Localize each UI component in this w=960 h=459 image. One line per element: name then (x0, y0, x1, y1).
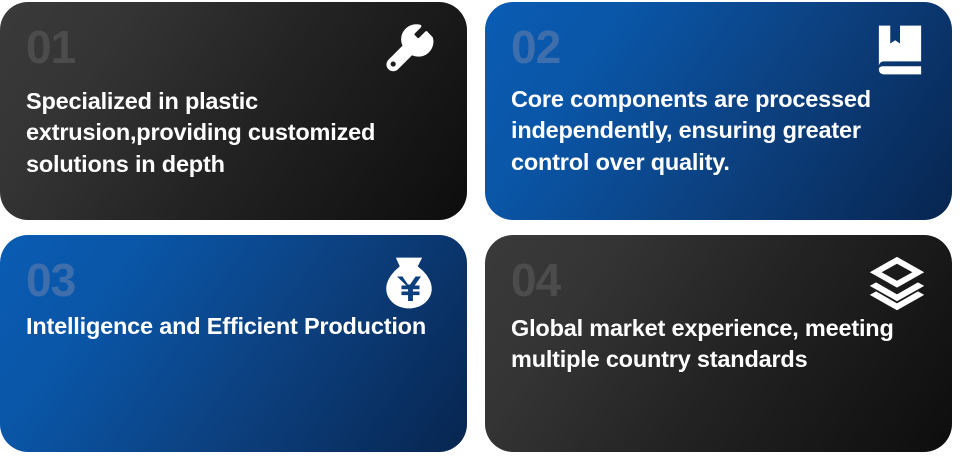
money-bag-yen-icon (381, 255, 437, 311)
card-number: 01 (26, 24, 441, 70)
wrench-icon (383, 22, 439, 78)
feature-card-grid: 01 Specialized in plastic extrusion,prov… (0, 0, 960, 459)
card-text: Global market experience, meeting multip… (511, 313, 926, 376)
feature-card-04[interactable]: 04 Global market experience, meeting mul… (485, 235, 952, 453)
feature-card-01[interactable]: 01 Specialized in plastic extrusion,prov… (0, 2, 467, 220)
card-number: 04 (511, 257, 926, 303)
card-number: 02 (511, 24, 926, 70)
book-bookmark-icon (874, 24, 926, 76)
feature-card-02[interactable]: 02 Core components are processed indepen… (485, 2, 952, 220)
feature-card-03[interactable]: 03 Intelligence and Efficient Production (0, 235, 467, 453)
layers-stack-icon (868, 255, 926, 313)
card-text: Core components are processed independen… (511, 84, 926, 178)
card-number: 03 (26, 257, 441, 303)
card-text: Specialized in plastic extrusion,providi… (26, 86, 441, 180)
card-text: Intelligence and Efficient Production (26, 311, 441, 342)
